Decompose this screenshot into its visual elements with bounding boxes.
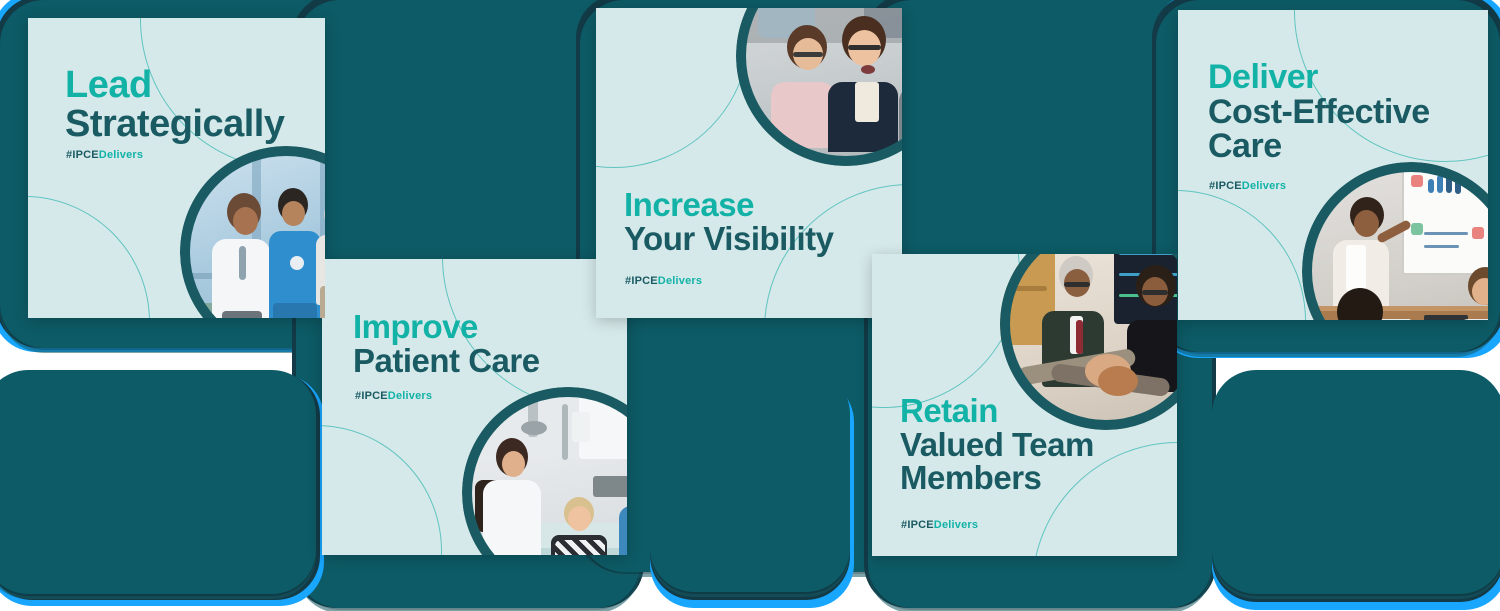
card-hashtag-increase-your-visibility: #IPCEDelivers — [625, 275, 702, 287]
card-headline-improve-patient-care: Improve Patient Care — [353, 310, 540, 377]
photo-clinical-team — [180, 146, 325, 318]
decorative-arc-top-left — [596, 8, 750, 168]
headline-line-2: Patient Care — [353, 344, 540, 378]
card-hashtag-lead-strategically: #IPCEDelivers — [66, 149, 143, 161]
device-panel-bottom-left — [0, 370, 316, 594]
card-headline-lead-strategically: Lead Strategically — [65, 66, 285, 144]
hashtag-primary: #IPCE — [901, 519, 934, 531]
photo-conference-audience — [736, 8, 902, 166]
card-improve-patient-care[interactable]: Improve Patient Care #IPCEDelivers — [322, 259, 627, 555]
hashtag-secondary: Delivers — [388, 390, 432, 402]
card-photo-improve-patient-care — [462, 387, 627, 555]
card-retain-valued-team-members[interactable]: Retain Valued Team Members #IPCEDelivers — [872, 254, 1177, 556]
headline-line-1: Deliver — [1208, 60, 1470, 95]
card-lead-strategically[interactable]: Lead Strategically #IPCEDelivers — [28, 18, 325, 318]
hashtag-secondary: Delivers — [99, 149, 143, 161]
card-hashtag-deliver-cost-effective-care: #IPCEDelivers — [1209, 180, 1286, 192]
device-panel-bottom-mid — [650, 370, 850, 592]
decorative-arc-bottom-left — [322, 425, 442, 555]
decorative-arc-bottom-left — [1178, 190, 1306, 320]
card-increase-your-visibility[interactable]: Increase Your Visibility #IPCEDelivers — [596, 8, 902, 318]
headline-line-1: Retain — [900, 394, 1150, 428]
card-headline-deliver-cost-effective-care: Deliver Cost-Effective Care — [1208, 60, 1470, 164]
hashtag-primary: #IPCE — [1209, 180, 1242, 192]
hashtag-primary: #IPCE — [355, 390, 388, 402]
card-photo-lead-strategically — [180, 146, 325, 318]
headline-line-2: Valued Team Members — [900, 428, 1150, 495]
headline-line-2: Cost-Effective Care — [1208, 95, 1470, 164]
slide-canvas: Lead Strategically #IPCEDelivers — [0, 0, 1500, 611]
photo-pediatric-care — [462, 387, 627, 555]
headline-line-1: Increase — [624, 188, 834, 222]
device-panel-bottom-right — [1212, 370, 1500, 594]
card-hashtag-improve-patient-care: #IPCEDelivers — [355, 390, 432, 402]
headline-line-1: Lead — [65, 66, 285, 105]
hashtag-secondary: Delivers — [934, 519, 978, 531]
hashtag-primary: #IPCE — [625, 275, 658, 287]
decorative-arc-top-left — [872, 254, 1020, 408]
card-headline-retain-valued-team-members: Retain Valued Team Members — [900, 394, 1150, 495]
photo-whiteboard-meeting — [1302, 162, 1488, 320]
decorative-arc-bottom-left — [28, 196, 150, 318]
headline-line-1: Improve — [353, 310, 540, 344]
hashtag-secondary: Delivers — [1242, 180, 1286, 192]
card-photo-deliver-cost-effective-care — [1302, 162, 1488, 320]
card-hashtag-retain-valued-team-members: #IPCEDelivers — [901, 519, 978, 531]
card-headline-increase-your-visibility: Increase Your Visibility — [624, 188, 834, 255]
card-deliver-cost-effective-care[interactable]: Deliver Cost-Effective Care #IPCEDeliver… — [1178, 10, 1488, 320]
headline-line-2: Strategically — [65, 105, 285, 144]
headline-line-2: Your Visibility — [624, 222, 834, 256]
card-photo-increase-your-visibility — [736, 8, 902, 166]
hashtag-secondary: Delivers — [658, 275, 702, 287]
hashtag-primary: #IPCE — [66, 149, 99, 161]
